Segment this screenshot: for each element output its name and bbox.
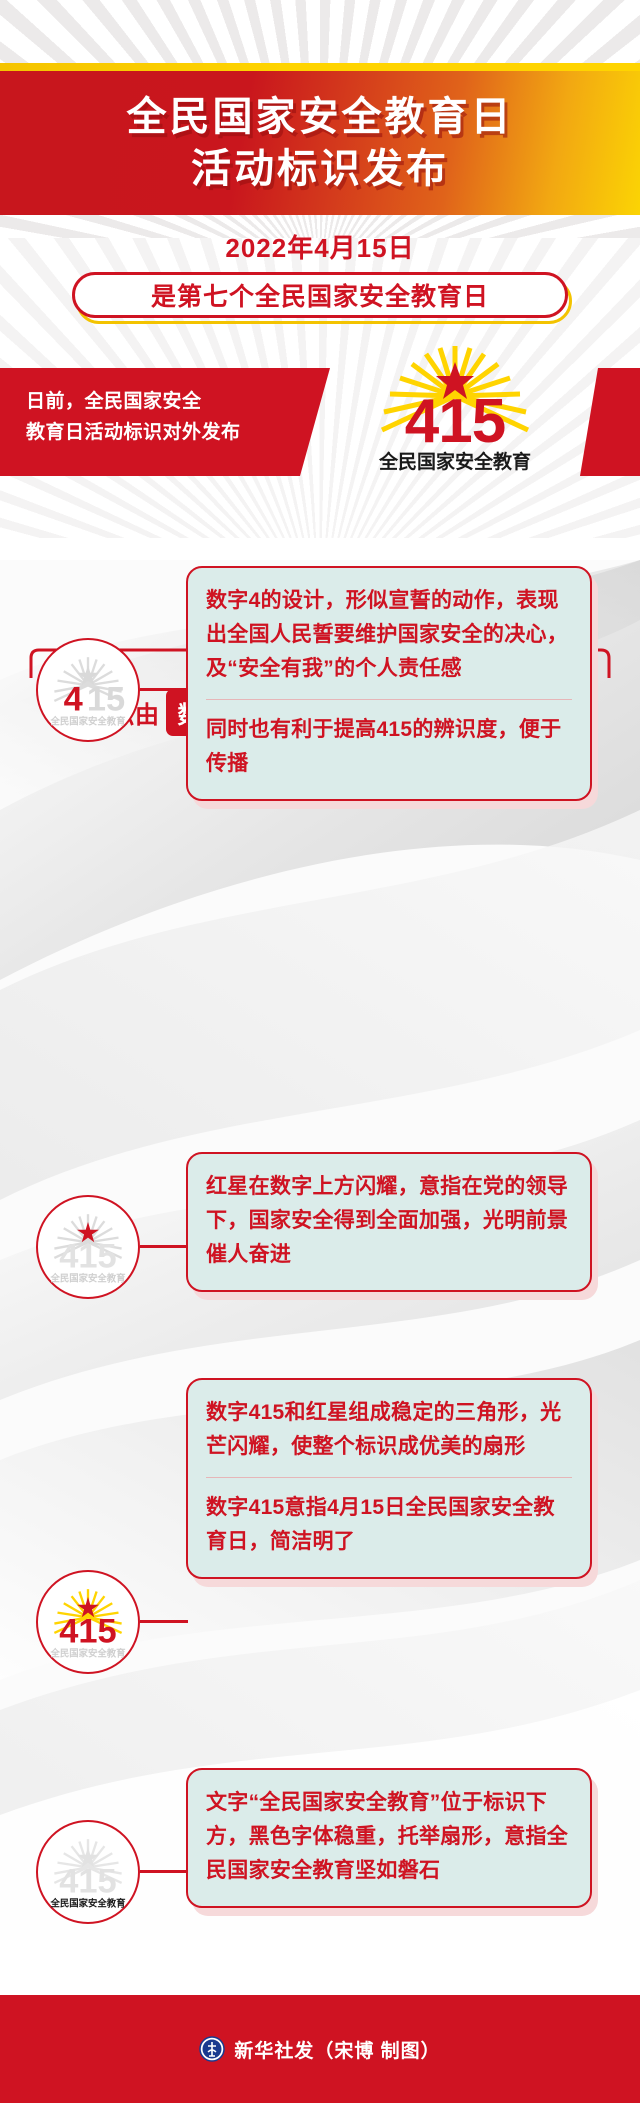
node-2: 415 全民国家安全教育 <box>36 1195 140 1299</box>
connector-2 <box>140 1245 188 1248</box>
event-date: 2022年4月15日 <box>0 228 640 265</box>
card-3-box: 数字415和红星组成稳定的三角形，光芒闪耀，使整个标识成优美的扇形 数字415意… <box>186 1378 592 1579</box>
node-4: 415 全民国家安全教育 <box>36 1820 140 1924</box>
page-title-line2: 活动标识发布 <box>191 144 449 194</box>
release-text-line2: 教育日活动标识对外发布 <box>26 417 316 448</box>
emblem-415-highlight-star-icon: 415 全民国家安全教育 <box>45 1209 131 1285</box>
footer-credit: 新华社发（宋博 制图） <box>234 2036 440 2063</box>
card-1-paragraph-2: 同时也有利于提高415的辨识度，便于传播 <box>206 713 572 781</box>
card-3-paragraph-1: 数字415和红星组成稳定的三角形，光芒闪耀，使整个标识成优美的扇形 <box>206 1396 572 1464</box>
connector-3 <box>140 1620 188 1623</box>
svg-text:全民国家安全教育: 全民国家安全教育 <box>49 1272 126 1283</box>
connector-1 <box>140 688 188 691</box>
card-1: 数字4的设计，形似宣誓的动作，表现出全国人民誓要维护国家安全的决心，及“安全有我… <box>186 566 592 801</box>
svg-text:415: 415 <box>59 1862 116 1900</box>
svg-text:全民国家安全教育: 全民国家安全教育 <box>49 1647 126 1658</box>
edition-pill-box: 是第七个全民国家安全教育日 <box>72 272 568 318</box>
card-1-divider <box>206 699 572 700</box>
release-text-line1: 日前，全民国家安全 <box>26 386 316 417</box>
emblem-415-highlight-caption-icon: 415 全民国家安全教育 <box>45 1834 131 1910</box>
svg-text:415: 415 <box>59 1612 116 1650</box>
card-3: 数字415和红星组成稳定的三角形，光芒闪耀，使整个标识成优美的扇形 数字415意… <box>186 1378 592 1579</box>
node-4-circle: 415 全民国家安全教育 <box>36 1820 140 1924</box>
card-3-paragraph-2: 数字415意指4月15日全民国家安全教育日，简洁明了 <box>206 1491 572 1559</box>
node-1: 4 15 全民国家安全教育 <box>36 638 140 742</box>
svg-text:全民国家安全教育: 全民国家安全教育 <box>49 715 126 726</box>
node-1-circle: 4 15 全民国家安全教育 <box>36 638 140 742</box>
card-4-paragraph-1: 文字“全民国家安全教育”位于标识下方，黑色字体稳重，托举扇形，意指全民国家安全教… <box>206 1786 572 1888</box>
node-2-circle: 415 全民国家安全教育 <box>36 1195 140 1299</box>
header-banner: 全民国家安全教育日 活动标识发布 <box>0 71 640 215</box>
card-1-box: 数字4的设计，形似宣誓的动作，表现出全国人民誓要维护国家安全的决心，及“安全有我… <box>186 566 592 801</box>
page-title: 全民国家安全教育日 活动标识发布 <box>0 71 640 215</box>
edition-pill-label: 是第七个全民国家安全教育日 <box>151 277 489 313</box>
svg-text:15: 15 <box>87 680 125 718</box>
emblem-415-highlight-rays-icon: 415 全民国家安全教育 <box>45 1584 131 1660</box>
emblem-415-highlight-four-icon: 4 15 全民国家安全教育 <box>45 652 131 728</box>
svg-text:4: 4 <box>64 680 83 718</box>
card-4: 文字“全民国家安全教育”位于标识下方，黑色字体稳重，托举扇形，意指全民国家安全教… <box>186 1768 592 1908</box>
edition-pill: 是第七个全民国家安全教育日 <box>72 272 568 322</box>
card-2-paragraph-1: 红星在数字上方闪耀，意指在党的领导下，国家安全得到全面加强，光明前景催人奋进 <box>206 1170 572 1272</box>
xinhua-logo-icon <box>199 2036 225 2062</box>
svg-text:全民国家安全教育: 全民国家安全教育 <box>378 450 531 473</box>
emblem-415-icon: 415 全民国家安全教育 <box>340 338 570 478</box>
card-1-paragraph-1: 数字4的设计，形似宣誓的动作，表现出全国人民誓要维护国家安全的决心，及“安全有我… <box>206 584 572 686</box>
release-text: 日前，全民国家安全 教育日活动标识对外发布 <box>26 386 316 449</box>
card-4-box: 文字“全民国家安全教育”位于标识下方，黑色字体稳重，托举扇形，意指全民国家安全教… <box>186 1768 592 1908</box>
card-2-box: 红星在数字上方闪耀，意指在党的领导下，国家安全得到全面加强，光明前景催人奋进 <box>186 1152 592 1292</box>
svg-text:415: 415 <box>59 1237 116 1275</box>
connector-4 <box>140 1870 188 1873</box>
node-3: 415 全民国家安全教育 <box>36 1570 140 1674</box>
card-3-divider <box>206 1477 572 1478</box>
footer-bar: 新华社发（宋博 制图） <box>0 1995 640 2103</box>
footer-white-spacer <box>0 1940 640 1995</box>
page-title-line1: 全民国家安全教育日 <box>127 92 514 142</box>
release-banner-right-shape <box>580 368 640 476</box>
poster-root: 全民国家安全教育日 活动标识发布 2022年4月15日 是第七个全民国家安全教育… <box>0 0 640 2103</box>
node-3-circle: 415 全民国家安全教育 <box>36 1570 140 1674</box>
svg-text:415: 415 <box>405 387 505 456</box>
svg-text:全民国家安全教育: 全民国家安全教育 <box>49 1897 126 1908</box>
card-2: 红星在数字上方闪耀，意指在党的领导下，国家安全得到全面加强，光明前景催人奋进 <box>186 1152 592 1292</box>
